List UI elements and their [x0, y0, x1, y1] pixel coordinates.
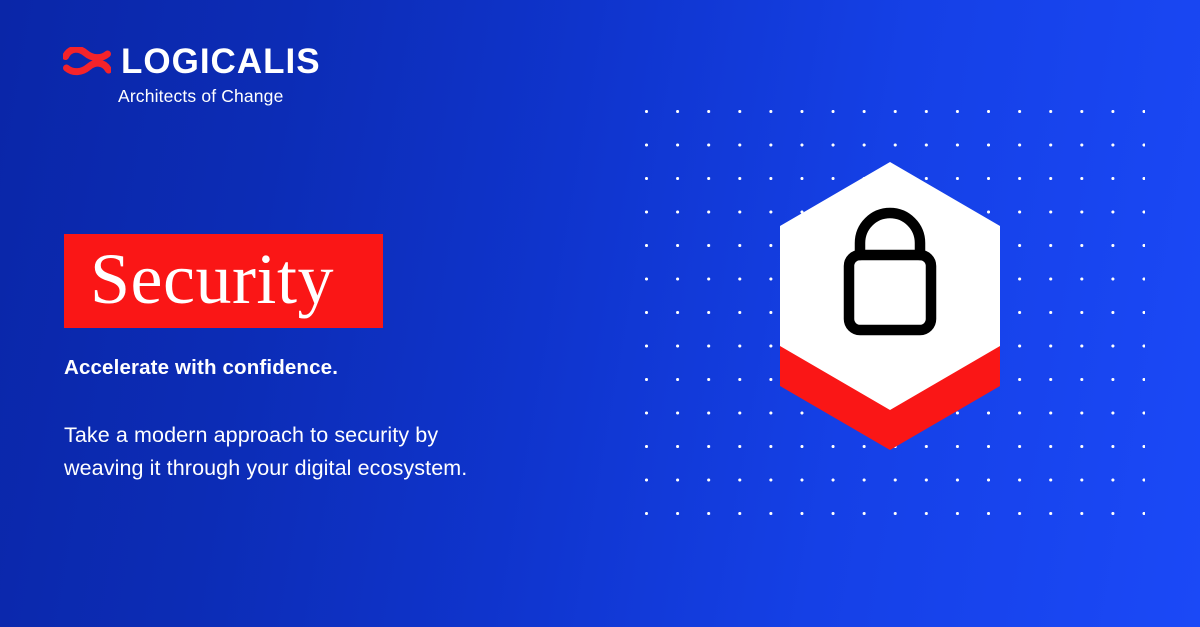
- logo-row: LOGICALIS: [63, 44, 321, 79]
- hexagon-lock-emblem: [748, 155, 1038, 460]
- page-title: Security: [90, 243, 334, 315]
- body-copy-line: weaving it through your digital ecosyste…: [64, 452, 584, 485]
- logo-wordmark: LOGICALIS: [121, 44, 321, 79]
- body-copy-line: Take a modern approach to security by: [64, 419, 584, 452]
- logicalis-logo: LOGICALIS Architects of Change: [63, 44, 321, 106]
- body-copy: Take a modern approach to security by we…: [64, 419, 584, 484]
- security-banner: LOGICALIS Architects of Change Security …: [0, 0, 1200, 627]
- logicalis-wave-mark-icon: [63, 47, 111, 77]
- headline-block: Security: [64, 234, 383, 328]
- subheadline: Accelerate with confidence.: [64, 356, 338, 381]
- logo-tagline: Architects of Change: [118, 88, 283, 106]
